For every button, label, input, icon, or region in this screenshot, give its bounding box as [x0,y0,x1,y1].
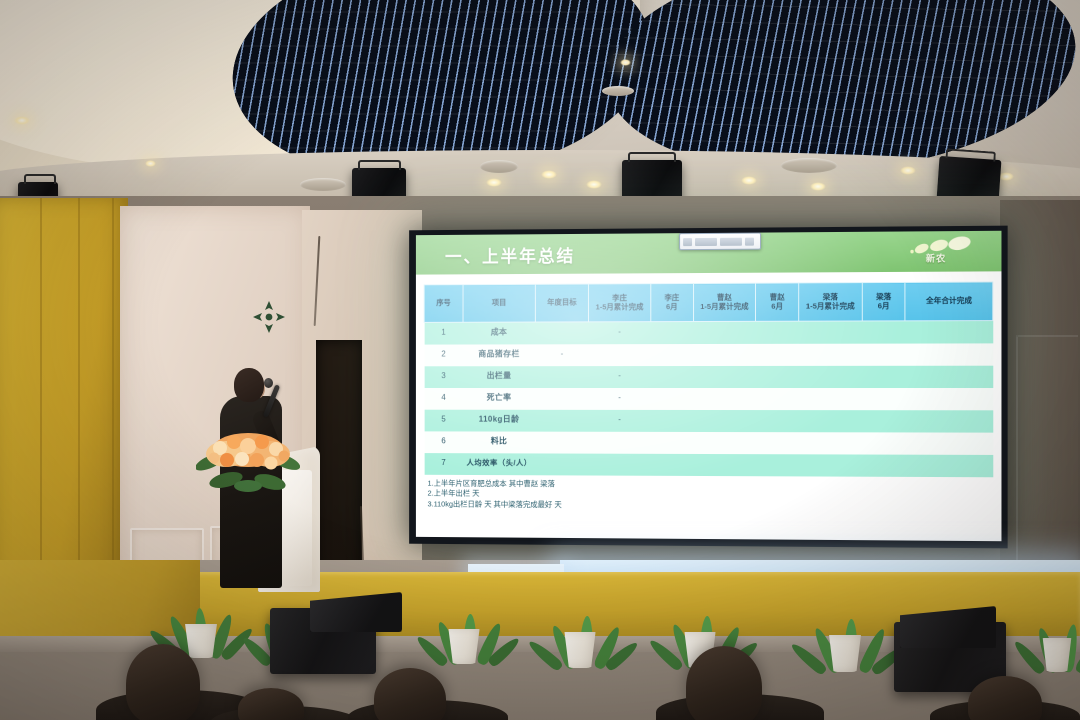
potted-plant [812,582,878,672]
table-row: 4 死亡率 - [424,387,993,409]
wall-panel-gold-left [0,198,128,616]
potted-plant [168,572,234,658]
table-body: 1 成本 - [424,321,993,477]
downlight-icon [145,160,156,167]
downlight-icon [741,176,757,185]
audience-head [126,644,200,720]
four-point-ornament-icon [252,300,286,334]
slide-header-bar: 一、上半年总结 新农 [416,231,1002,275]
brand-logo: 新农 [905,234,987,269]
col-header-target: 年度目标 [535,284,588,322]
table-row: 6 料比 [424,431,993,455]
col-header-liangluo-6: 梁落 6月 [862,282,905,321]
col-header-caozhao-6: 曹赵 6月 [756,283,799,321]
downlight-icon [900,166,916,175]
slide-title: 一、上半年总结 [445,241,575,267]
summary-table: 序号 项目 年度目标 李庄 1-5月累计完成 李庄 6月 曹赵 1-5月累计完成… [424,282,994,477]
table-row: 3 出栏量 - [424,365,993,387]
toolbar-button[interactable] [720,237,742,245]
conference-hall-photo: 一、上半年总结 新农 [0,0,1080,720]
col-header-lizhuang-1-5: 李庄 1-5月累计完成 [589,284,651,322]
slide-notes: 1.上半年片区育肥总成本 其中曹赵 梁落 2.上半年出栏 天 3.110kg出栏… [424,478,994,514]
ceiling-vent [781,158,837,173]
potted-plant [548,580,612,668]
downlight-icon [620,59,631,66]
potted-plant [432,578,496,664]
table-row: 1 成本 - [424,321,993,345]
col-header-caozhao-1-5: 曹赵 1-5月累计完成 [693,283,756,321]
col-header-liangluo-1-5: 梁落 1-5月累计完成 [799,283,862,321]
audience-head [686,646,762,720]
table-header-row: 序号 项目 年度目标 李庄 1-5月累计完成 李庄 6月 曹赵 1-5月累计完成… [424,282,993,322]
doorway-recess [316,340,362,590]
toolbar-button[interactable] [695,237,717,245]
ceiling-vent [602,86,634,96]
presenter-head [234,368,264,402]
projection-screen-frame: 一、上半年总结 新农 [409,226,1008,549]
flower-arrangement [196,422,300,494]
ceiling-vent [300,178,346,191]
col-header-index: 序号 [424,285,463,323]
brand-name: 新农 [926,251,946,264]
col-header-lizhuang-6: 李庄 6月 [651,284,694,322]
table-row: 5 110kg日龄 - [424,409,993,432]
downlight-icon [810,182,826,191]
col-header-item: 项目 [463,284,535,322]
col-header-year-total: 全年合计完成 [905,282,992,321]
table-row: 7 人均效率（头/人） [424,453,993,477]
microphone-head [264,378,273,388]
door-right[interactable] [1016,335,1078,593]
potted-plant [1028,586,1080,672]
presentation-toolbar[interactable] [679,233,761,251]
ceiling-vent [480,160,518,173]
toolbar-button[interactable] [745,237,754,245]
note-line: 3.110kg出栏日龄 天 其中梁落完成最好 天 [428,500,994,514]
downlight-icon [586,180,602,189]
table-row: 2 商品猪存栏 - [424,343,993,366]
toolbar-button[interactable] [683,238,692,246]
downlight-icon [541,170,557,179]
projection-screen: 一、上半年总结 新农 [416,231,1002,541]
slide: 一、上半年总结 新农 [416,231,1002,541]
downlight-icon [14,116,30,125]
slide-body: 序号 项目 年度目标 李庄 1-5月累计完成 李庄 6月 曹赵 1-5月累计完成… [416,271,1002,541]
downlight-icon [486,178,502,187]
